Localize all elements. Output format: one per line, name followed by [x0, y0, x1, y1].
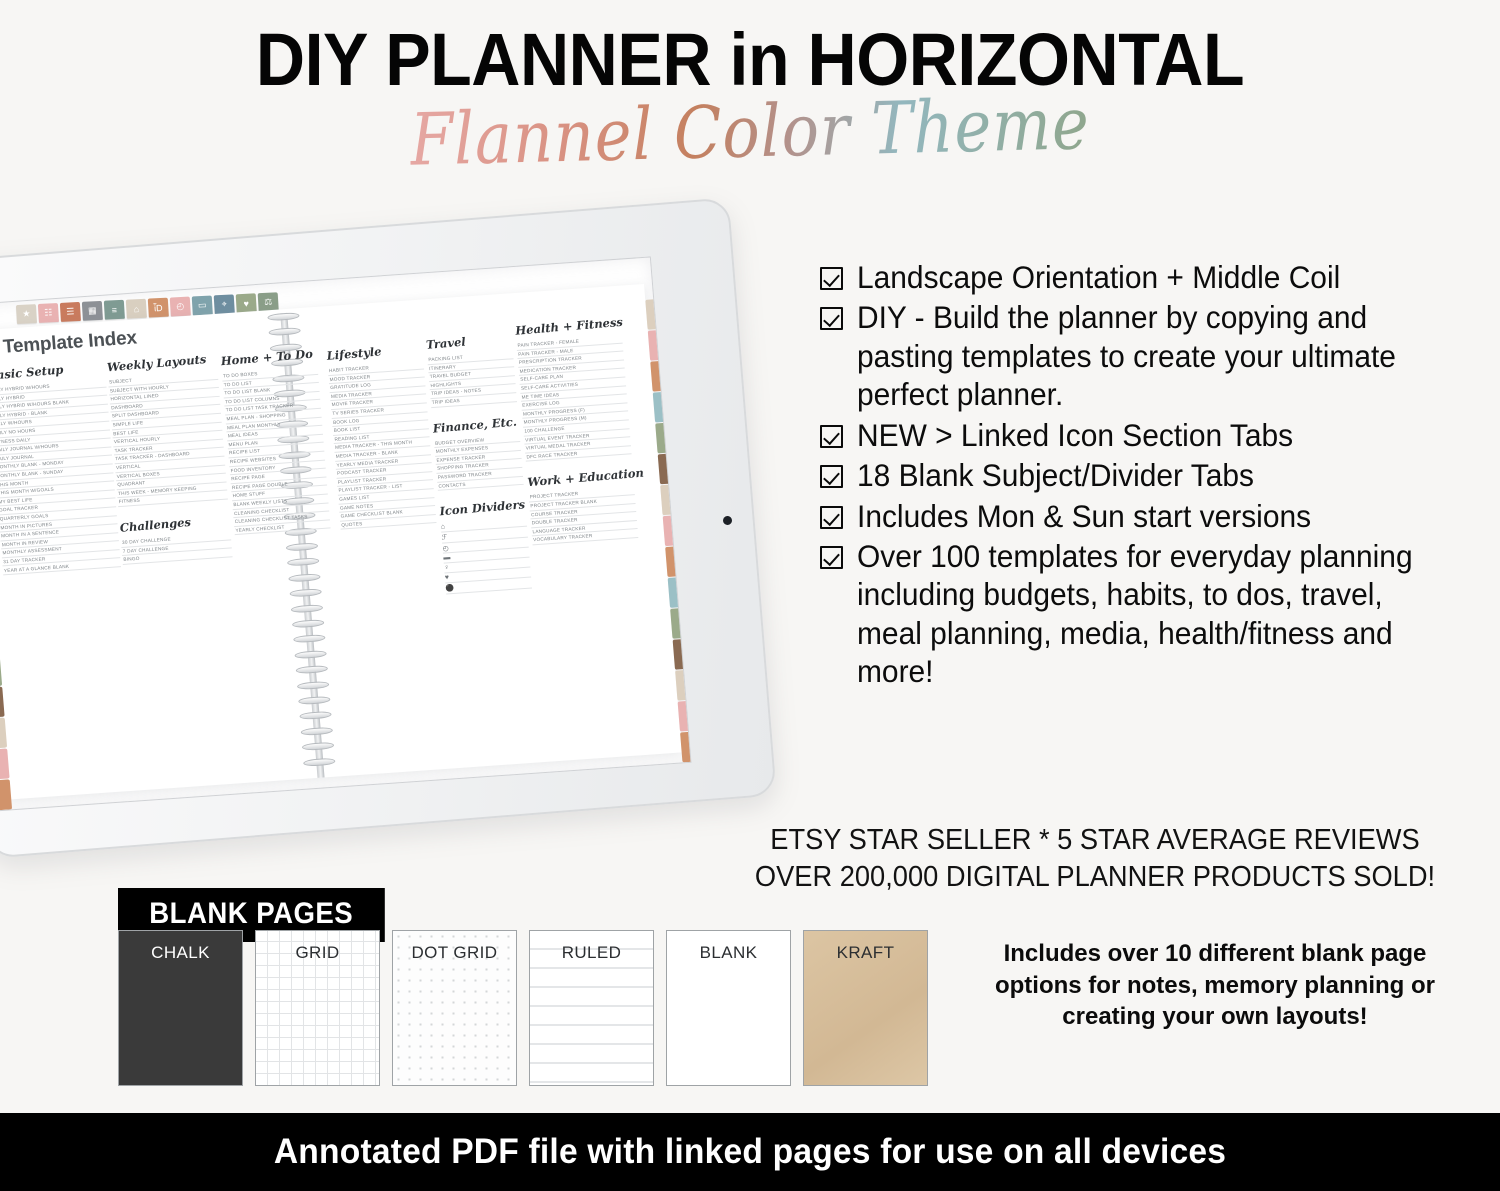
- column-travel: TravelPACKING LISTITINERARYTRAVEL BUDGET…: [426, 331, 532, 594]
- coil-ring: [301, 727, 333, 736]
- clock-icon[interactable]: ◴: [170, 297, 191, 317]
- etsy-credit-line-2: OVER 200,000 DIGITAL PLANNER PRODUCTS SO…: [724, 859, 1467, 896]
- coil-ring: [267, 312, 299, 321]
- swatch-dot-grid[interactable]: DOT GRID: [392, 930, 517, 1086]
- feature-list: Landscape Orientation + Middle CoilDIY -…: [820, 258, 1480, 693]
- page-subtitle: Flannel Color Theme: [409, 81, 1090, 182]
- column-home-todo: Home + To DoTO DO BOXESTO DO LISTTO DO L…: [220, 347, 330, 535]
- feature-item: Includes Mon & Sun start versions: [820, 497, 1480, 535]
- bottom-banner-text: Annotated PDF file with linked pages for…: [274, 1132, 1226, 1172]
- coil-ring: [302, 742, 334, 751]
- swatch-label: RULED: [530, 943, 653, 963]
- feature-label: DIY - Build the planner by copying and p…: [857, 298, 1449, 413]
- checkbox-icon[interactable]: [820, 546, 843, 569]
- feature-label: Includes Mon & Sun start versions: [857, 497, 1311, 535]
- coil-ring: [289, 588, 321, 597]
- coil-ring: [294, 650, 326, 659]
- swatch-chalk[interactable]: CHALK: [118, 930, 243, 1086]
- feature-item: Landscape Orientation + Middle Coil: [820, 258, 1480, 296]
- coil-ring: [296, 665, 328, 674]
- feature-item: DIY - Build the planner by copying and p…: [820, 298, 1480, 413]
- swatch-label: DOT GRID: [393, 943, 516, 963]
- feature-item: Over 100 templates for everyday planning…: [820, 537, 1480, 691]
- index-heading: Template Index: [0, 327, 138, 359]
- feature-label: Over 100 templates for everyday planning…: [857, 537, 1449, 691]
- divider-tab[interactable]: [0, 718, 7, 749]
- food-icon[interactable]: ἷD: [148, 298, 169, 318]
- list-icon[interactable]: ≡: [104, 300, 125, 320]
- coil-ring: [303, 757, 335, 766]
- divider-tab[interactable]: [0, 779, 12, 810]
- column-title: Travel: [426, 331, 513, 352]
- feature-label: Landscape Orientation + Middle Coil: [857, 258, 1340, 296]
- coil-ring: [298, 696, 330, 705]
- swatch-ruled[interactable]: RULED: [529, 930, 654, 1086]
- feature-label: 18 Blank Subject/Divider Tabs: [857, 456, 1254, 494]
- divider-tab[interactable]: [0, 748, 10, 779]
- feature-item: NEW > Linked Icon Section Tabs: [820, 416, 1480, 454]
- coil-ring: [292, 619, 324, 628]
- column-title: Work + Education: [527, 467, 634, 490]
- swatch-blank[interactable]: BLANK: [666, 930, 791, 1086]
- swatch-grid[interactable]: GRID: [255, 930, 380, 1086]
- swatch-kraft[interactable]: KRAFT: [803, 930, 928, 1086]
- subtitle-wrapper: Flannel Color Theme: [0, 95, 1500, 175]
- index-title: Template Index: [2, 327, 138, 358]
- column-title: Health + Fitness: [515, 315, 622, 338]
- tablet-screen: ★☷☰▦≡⌂ἷD◴▭⌖♥⚖ Template Index Basic Setup…: [0, 256, 692, 811]
- checkbox-icon[interactable]: [820, 425, 843, 448]
- column-lifestyle: LifestyleHABIT TRACKERMOOD TRACKERGRATIT…: [326, 342, 436, 530]
- coil-ring: [288, 573, 320, 582]
- column-title: Icon Dividers: [439, 497, 526, 518]
- column-title: Finance, Etc.: [432, 414, 519, 435]
- swatch-label: CHALK: [119, 943, 242, 963]
- coil-ring: [291, 604, 323, 613]
- pin-icon[interactable]: ⌖: [214, 294, 235, 314]
- blank-page-swatches: CHALKGRIDDOT GRIDRULEDBLANKKRAFT: [118, 930, 928, 1086]
- column-title: Weekly Layouts: [106, 351, 217, 374]
- briefcase-icon[interactable]: ▭: [192, 295, 213, 315]
- tablet-mockup: ★☷☰▦≡⌂ἷD◴▭⌖♥⚖ Template Index Basic Setup…: [0, 228, 784, 868]
- page-title: DIY PLANNER in HORIZONTAL: [60, 22, 1440, 97]
- column-health-fitness: Health + FitnessPAIN TRACKER - FEMALEPAI…: [515, 316, 639, 546]
- page-header: DIY PLANNER in HORIZONTAL Flannel Color …: [0, 0, 1500, 175]
- etsy-credit: ETSY STAR SELLER * 5 STAR AVERAGE REVIEW…: [724, 822, 1467, 896]
- blank-pages-note: Includes over 10 different blank page op…: [980, 938, 1450, 1033]
- swatch-label: KRAFT: [804, 943, 927, 963]
- bottom-banner: Annotated PDF file with linked pages for…: [0, 1113, 1500, 1191]
- column-basic-setup: Basic SetupDAILY HYBRID W/HOURSDAILY HYB…: [0, 360, 121, 576]
- home-icon[interactable]: ⌂: [126, 299, 147, 319]
- checkbox-icon[interactable]: [820, 267, 843, 290]
- feature-label: NEW > Linked Icon Section Tabs: [857, 416, 1293, 454]
- checkbox-icon[interactable]: [820, 307, 843, 330]
- etsy-credit-line-1: ETSY STAR SELLER * 5 STAR AVERAGE REVIEW…: [724, 822, 1467, 859]
- column-weekly-layouts: Weekly LayoutsSUBJECTSUBJECT WITH HOURLY…: [106, 352, 232, 565]
- divider-tab[interactable]: [0, 656, 2, 687]
- calendar-icon[interactable]: ☷: [38, 303, 59, 323]
- feature-item: 18 Blank Subject/Divider Tabs: [820, 456, 1480, 494]
- chart-icon[interactable]: ☰: [60, 302, 81, 322]
- divider-tab[interactable]: [0, 687, 5, 718]
- column-title: Challenges: [119, 512, 230, 535]
- coil-ring: [286, 542, 318, 551]
- column-title: Lifestyle: [326, 341, 423, 363]
- grid-icon[interactable]: ▦: [82, 301, 103, 321]
- swatch-label: BLANK: [667, 943, 790, 963]
- star-icon[interactable]: ★: [16, 304, 37, 324]
- planner-page: Template Index Basic SetupDAILY HYBRID W…: [0, 284, 682, 800]
- checkbox-icon[interactable]: [820, 506, 843, 529]
- coil-ring: [297, 680, 329, 689]
- column-title: Home + To Do: [220, 346, 317, 368]
- checkbox-icon[interactable]: [820, 465, 843, 488]
- swatch-label: GRID: [256, 943, 379, 963]
